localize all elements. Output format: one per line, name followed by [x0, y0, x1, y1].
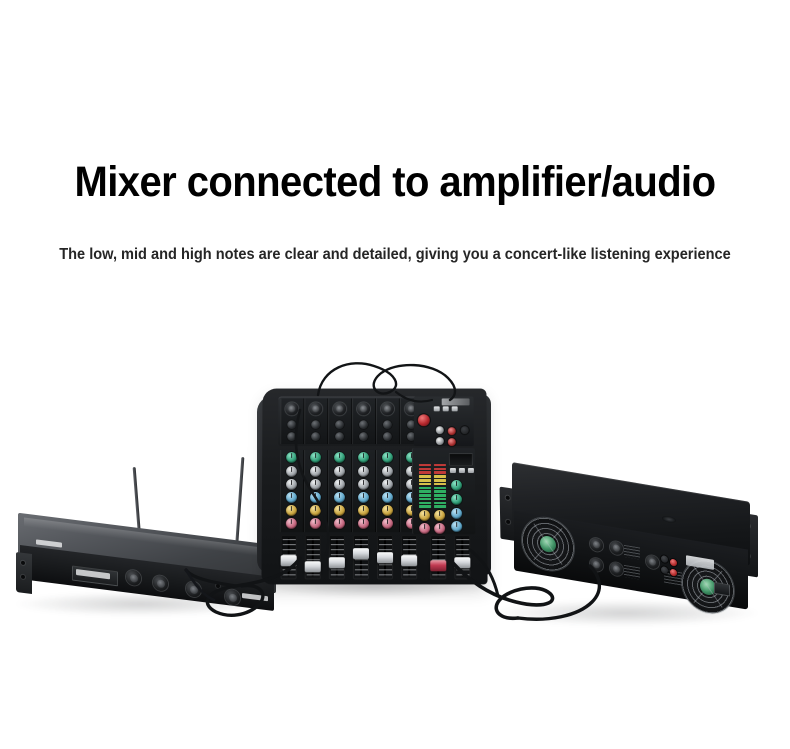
antenna-right-icon [235, 457, 245, 553]
xlr-input-left [610, 540, 623, 555]
ch2-low-knob [310, 492, 321, 503]
channel-strip-1 [280, 450, 304, 532]
ch3-hi-knob [334, 466, 345, 477]
mixer-switch-2 [443, 406, 449, 411]
master-button-1 [450, 468, 456, 473]
ch2-aux-knob [310, 505, 321, 516]
power-amplifier [490, 482, 760, 622]
rca-output-left [436, 437, 444, 445]
page-root: Mixer connected to amplifier/audio The l… [0, 0, 790, 749]
amp-vent-slots-2 [624, 565, 640, 580]
ch5-aux-knob [382, 505, 393, 516]
trim-knob-4 [359, 432, 368, 441]
ch4-gain-knob [358, 452, 369, 463]
fx-knob-4 [451, 521, 462, 532]
ch1-aux-knob [286, 505, 297, 516]
fader-channel-6 [401, 535, 417, 579]
rack-screw-b [21, 575, 25, 580]
iec-power-inlet [714, 582, 730, 597]
channel-strip-2 [304, 450, 328, 532]
mixer-chassis [261, 389, 487, 585]
ch4-low-knob [358, 492, 369, 503]
ch1-pan-knob [286, 518, 297, 529]
ch3-aux-knob [334, 505, 345, 516]
fader-channel-4 [353, 535, 369, 579]
fader-channel-3 [329, 535, 345, 579]
binding-post-red-2 [670, 569, 677, 577]
speakon-output-2 [590, 557, 603, 572]
fader-master-right [454, 535, 470, 579]
master-level-knob-2 [434, 523, 445, 534]
wireless-receiver [18, 505, 276, 613]
amp-rack-screw-2 [506, 520, 510, 525]
binding-post-black-2 [661, 566, 668, 574]
mixer-fader-bank [278, 535, 475, 581]
master-gain-knob-1 [419, 510, 430, 521]
ch1-gain-knob [286, 452, 297, 463]
vu-meter-left [419, 452, 431, 508]
master-level-knob-1 [419, 523, 430, 534]
ch1-mid-knob [286, 479, 297, 490]
gain-knob-3 [335, 420, 344, 429]
fader-channel-1 [281, 535, 297, 579]
trim-knob-3 [335, 432, 344, 441]
binding-post-black-1 [661, 555, 668, 563]
ch5-hi-knob [382, 466, 393, 477]
ch5-mid-knob [382, 479, 393, 490]
fx-knob-1 [451, 480, 462, 491]
phantom-power-knob [418, 414, 430, 426]
xlr-input-2 [309, 402, 322, 415]
ch4-hi-knob [358, 466, 369, 477]
mixer-switch-1 [434, 406, 440, 411]
ch4-aux-knob [358, 505, 369, 516]
xlr-output-1 [126, 569, 141, 586]
trim-knob-5 [383, 432, 392, 441]
trim-knob-2 [311, 432, 320, 441]
ch2-gain-knob [310, 452, 321, 463]
binding-post-red-1 [670, 559, 677, 567]
fx-knob-3 [451, 508, 462, 519]
product-photo [0, 300, 790, 660]
gain-knob-1 [287, 420, 296, 429]
ch1-hi-knob [286, 466, 297, 477]
xlr-output-2 [153, 575, 168, 592]
channel-strip-3 [328, 450, 352, 532]
receiver-screw-1 [216, 584, 220, 589]
speakon-output-1 [590, 537, 603, 552]
ch4-mid-knob [358, 479, 369, 490]
xlr-input-4 [357, 402, 370, 415]
ch3-low-knob [334, 492, 345, 503]
fx-knob-2 [451, 494, 462, 505]
input-strip-1 [280, 398, 304, 444]
channel-strip-5 [376, 450, 400, 532]
vu-meter-right [434, 452, 446, 508]
input-strip-4 [352, 398, 376, 444]
ch3-gain-knob [334, 452, 345, 463]
amp-vent-slots-1 [624, 545, 640, 560]
input-strip-2 [304, 398, 328, 444]
audio-mixer [262, 388, 487, 593]
amp-rack-screw-1 [506, 496, 510, 501]
receiver-side-label [242, 593, 268, 601]
gain-knob-2 [311, 420, 320, 429]
mixer-brand-logo [442, 398, 470, 405]
master-gain-knob-2 [434, 510, 445, 521]
receiver-rack-ear-left [16, 552, 32, 594]
rca-output-right [448, 438, 456, 446]
gain-knob-4 [359, 420, 368, 429]
ch2-mid-knob [310, 479, 321, 490]
fader-master-left [430, 535, 446, 579]
page-title: Mixer connected to amplifier/audio [28, 157, 763, 207]
gain-knob-5 [383, 420, 392, 429]
fader-channel-5 [377, 535, 393, 579]
input-strip-3 [328, 398, 352, 444]
xlr-input-5 [381, 402, 394, 415]
link-connector [646, 555, 659, 570]
rack-screw-a [21, 561, 25, 566]
effects-display [449, 453, 473, 466]
fan-hub-left [540, 535, 556, 554]
ch5-gain-knob [382, 452, 393, 463]
mixer-master-section [412, 448, 475, 534]
ch2-pan-knob [310, 518, 321, 529]
page-subtitle: The low, mid and high notes are clear an… [24, 244, 767, 266]
rca-input-left [436, 426, 444, 434]
xlr-input-3 [333, 402, 346, 415]
input-strip-5 [376, 398, 400, 444]
cooling-fan-left-icon [522, 514, 574, 575]
xlr-input-1 [285, 402, 298, 415]
trim-knob-1 [287, 432, 296, 441]
rca-input-right [448, 427, 456, 435]
ch2-hi-knob [310, 466, 321, 477]
ch3-mid-knob [334, 479, 345, 490]
xlr-output-4 [225, 589, 240, 606]
master-button-3 [468, 468, 474, 473]
xlr-output-3 [186, 581, 201, 598]
aux-jack [461, 426, 469, 434]
fader-channel-2 [305, 535, 321, 579]
ch3-pan-knob [334, 518, 345, 529]
ch5-low-knob [382, 492, 393, 503]
mixer-switch-3 [452, 406, 458, 411]
channel-strip-4 [352, 450, 376, 532]
xlr-input-right [610, 561, 623, 576]
master-button-2 [459, 468, 465, 473]
ch4-pan-knob [358, 518, 369, 529]
ch1-low-knob [286, 492, 297, 503]
ch5-pan-knob [382, 518, 393, 529]
